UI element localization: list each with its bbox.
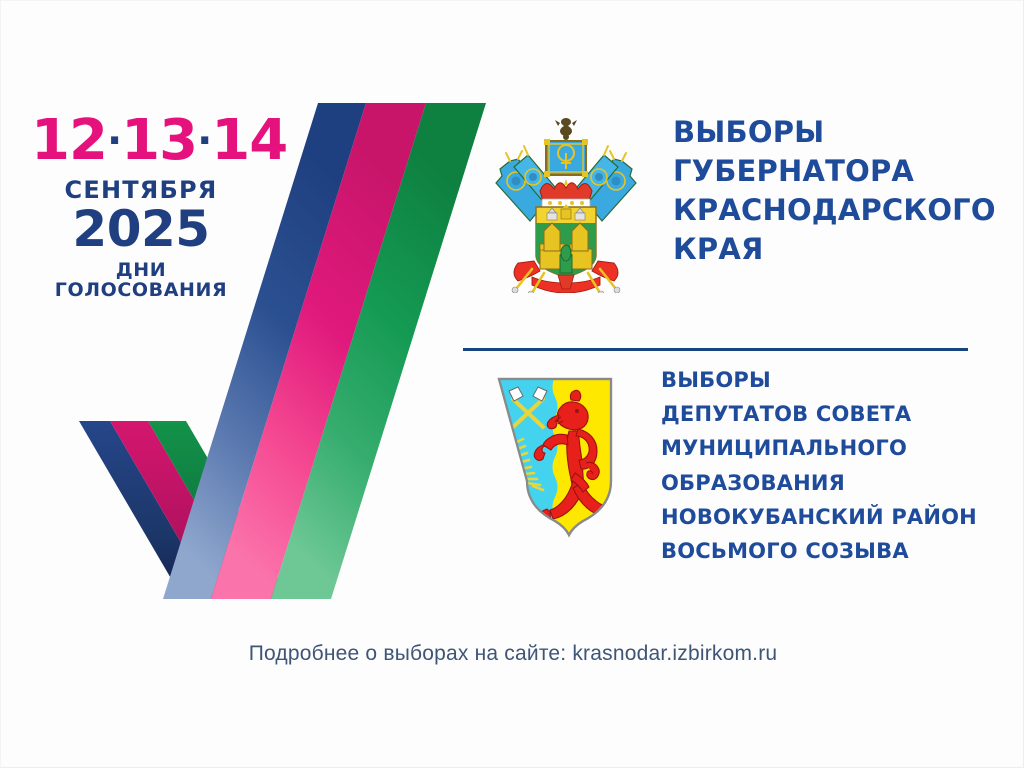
election-poster: 12·13·14 СЕНТЯБРЯ 2025 ДНИ ГОЛОСОВАНИЯ [0,0,1024,768]
voting-day-2: 13 [121,108,197,173]
voting-day-1: 12 [31,108,107,173]
governor-election-heading: ВЫБОРЫ ГУБЕРНАТОРА КРАСНОДАРСКОГО КРАЯ [673,113,1003,268]
day-separator-2: · [197,118,211,164]
krai-shield [536,204,596,277]
voting-days-label-line2: ГОЛОСОВАНИЯ [31,281,251,300]
voting-day-3: 14 [211,108,287,173]
novokubansk-district-coat-of-arms [485,369,625,554]
voting-month: СЕНТЯБРЯ [31,178,251,202]
voting-days: 12·13·14 [31,113,251,169]
council-heading-line-4: ОБРАЗОВАНИЯ [661,466,1011,500]
voting-days-label-line1: ДНИ [31,261,251,280]
council-heading-line-2: ДЕПУТАТОВ СОВЕТА [661,397,1011,431]
council-heading-line-1: ВЫБОРЫ [661,363,1011,397]
day-separator-1: · [107,118,121,164]
governor-heading-line-2: ГУБЕРНАТОРА [673,152,1003,191]
voting-year: 2025 [31,204,251,254]
krasnodar-krai-coat-of-arms [488,113,644,293]
section-divider [463,348,968,351]
council-heading-line-3: МУНИЦИПАЛЬНОГО [661,431,1011,465]
governor-heading-line-1: ВЫБОРЫ [673,113,1003,152]
krai-crown [540,179,592,208]
council-heading-line-6: ВОСЬМОГО СОЗЫВА [661,534,1011,568]
governor-heading-line-4: КРАЯ [673,230,1003,269]
council-election-heading: ВЫБОРЫ ДЕПУТАТОВ СОВЕТА МУНИЦИПАЛЬНОГО О… [661,363,1011,568]
governor-heading-line-3: КРАСНОДАРСКОГО [673,191,1003,230]
voting-dates-block: 12·13·14 СЕНТЯБРЯ 2025 ДНИ ГОЛОСОВАНИЯ [31,113,251,300]
more-info-note: Подробнее о выборах на сайте: krasnodar.… [1,642,1024,666]
krai-eagle-plaque [544,118,588,177]
council-heading-line-5: НОВОКУБАНСКИЙ РАЙОН [661,500,1011,534]
